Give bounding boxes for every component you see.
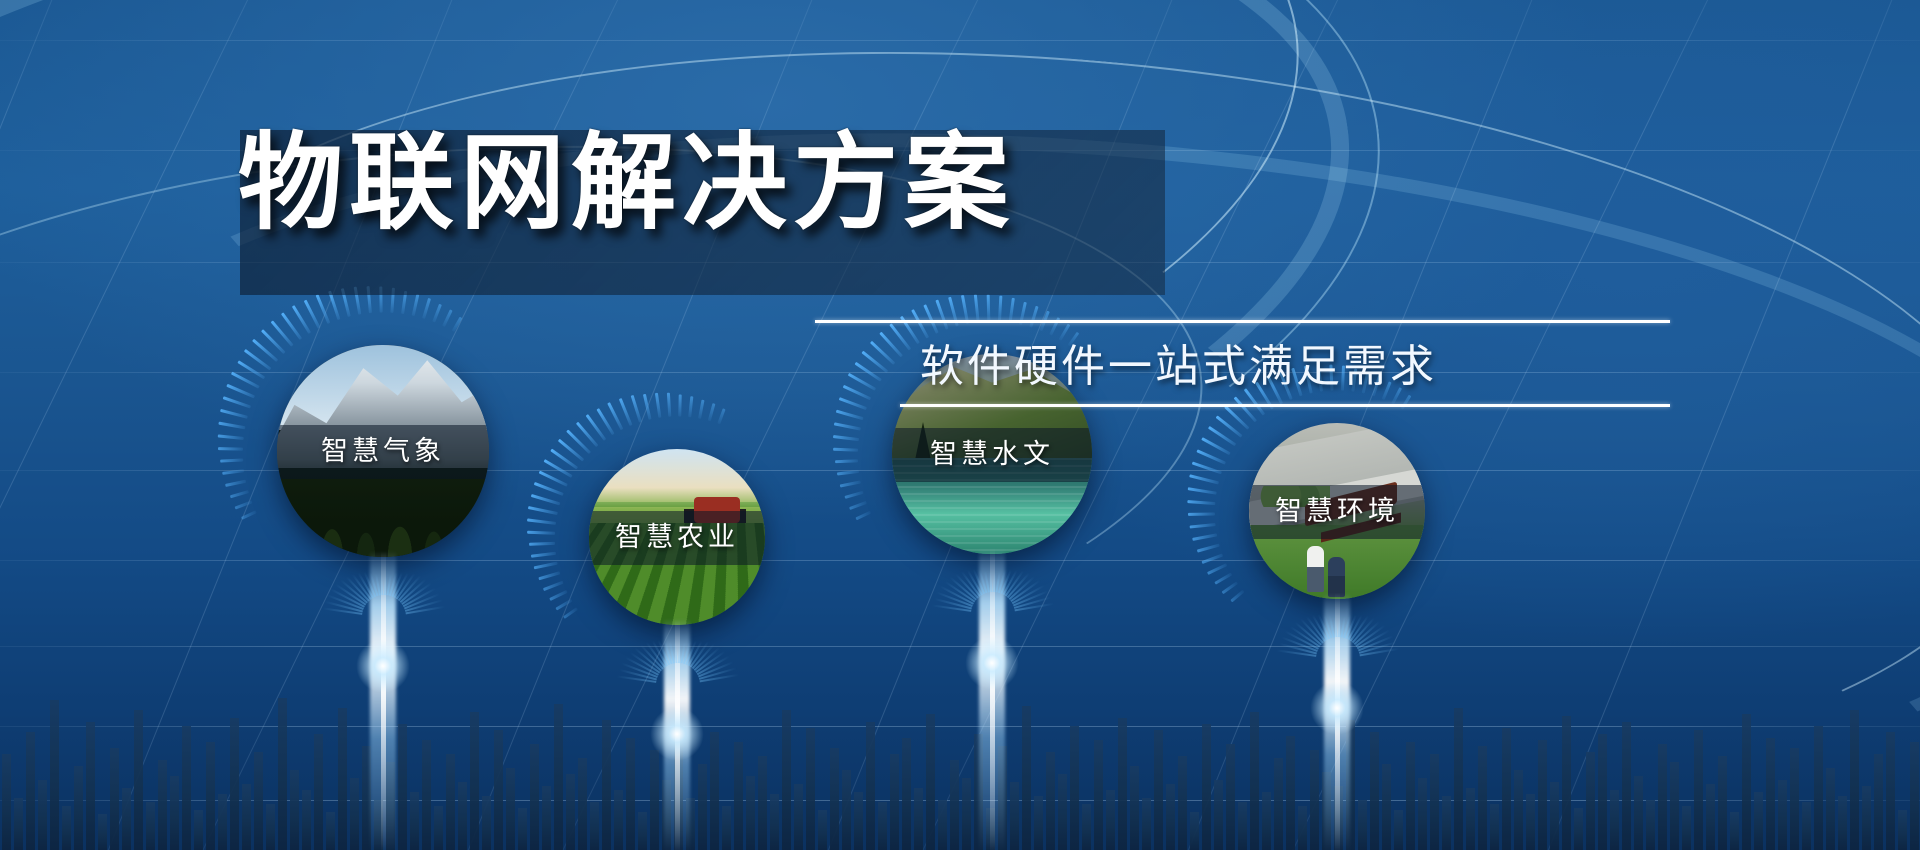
equalizer-bar xyxy=(1802,802,1811,850)
equalizer-bar xyxy=(1130,766,1139,850)
equalizer-bar xyxy=(1754,792,1763,850)
equalizer-bar xyxy=(26,732,35,850)
equalizer-bar xyxy=(218,794,227,850)
equalizer-bar xyxy=(1538,740,1547,850)
equalizer-bar xyxy=(110,748,119,850)
equalizer-bar xyxy=(38,780,47,850)
equalizer-bar xyxy=(686,798,695,850)
equalizer-bar xyxy=(1778,780,1787,850)
equalizer-bar xyxy=(1658,744,1667,850)
equalizer-bar xyxy=(1886,732,1895,850)
equalizer-bar xyxy=(1406,742,1415,850)
equalizer-bar xyxy=(1274,758,1283,850)
card-label: 智慧气象 xyxy=(277,425,489,479)
equalizer-bar xyxy=(626,738,635,850)
equalizer-bar xyxy=(170,776,179,850)
beam-ray-fan xyxy=(992,612,993,613)
equalizer-bar xyxy=(1574,808,1583,850)
equalizer-bar xyxy=(590,802,599,850)
equalizer-bar xyxy=(302,790,311,850)
equalizer-bar xyxy=(1898,810,1907,850)
equalizer-bar xyxy=(1478,746,1487,850)
equalizer-bar xyxy=(1358,800,1367,850)
equalizer-bar xyxy=(1706,784,1715,850)
equalizer-bar xyxy=(206,742,215,850)
equalizer-bar xyxy=(758,756,767,850)
equalizer-bar xyxy=(1430,754,1439,850)
equalizer-bar xyxy=(1526,794,1535,850)
equalizer-bar xyxy=(1502,728,1511,850)
equalizer-bar xyxy=(1298,806,1307,850)
equalizer-bar xyxy=(1034,796,1043,850)
equalizer-bar xyxy=(962,778,971,850)
equalizer-bar xyxy=(158,760,167,850)
equalizer-bar xyxy=(1442,796,1451,850)
equalizer-bars xyxy=(0,620,1920,850)
equalizer-bar xyxy=(134,710,143,850)
equalizer-bar xyxy=(326,812,335,850)
equalizer-bar xyxy=(410,792,419,850)
equalizer-bar xyxy=(542,786,551,850)
radial-tick-arc xyxy=(676,536,678,538)
equalizer-bar xyxy=(890,754,899,850)
equalizer-bar xyxy=(998,746,1007,850)
equalizer-bar xyxy=(1514,770,1523,850)
equalizer-bar xyxy=(278,698,287,850)
equalizer-bar xyxy=(1874,754,1883,850)
equalizer-bar xyxy=(746,776,755,850)
grid-line-horizontal xyxy=(0,40,1920,41)
equalizer-bar xyxy=(938,800,947,850)
equalizer-bar xyxy=(974,734,983,850)
equalizer-bar xyxy=(1610,790,1619,850)
equalizer-bar xyxy=(386,762,395,850)
wave-ribbon xyxy=(0,0,1344,629)
equalizer-bar xyxy=(1394,810,1403,850)
equalizer-bar xyxy=(710,732,719,850)
equalizer-bar xyxy=(602,720,611,850)
card-label: 智慧农业 xyxy=(589,511,765,565)
equalizer-bar xyxy=(1838,796,1847,850)
equalizer-bar xyxy=(926,714,935,850)
equalizer-bar xyxy=(1418,778,1427,850)
iot-solutions-banner: 智慧气象智慧农业智慧水文智慧环境 物联网解决方案 软件硬件一站式满足需求 xyxy=(0,0,1920,850)
equalizer-bar xyxy=(1214,780,1223,850)
equalizer-bar xyxy=(1466,788,1475,850)
card-circle[interactable]: 智慧环境 xyxy=(1249,423,1425,599)
equalizer-bar xyxy=(1598,734,1607,850)
equalizer-bar xyxy=(842,770,851,850)
equalizer-bar xyxy=(1670,762,1679,850)
equalizer-bar xyxy=(1118,718,1127,850)
equalizer-bar xyxy=(314,734,323,850)
equalizer-bar xyxy=(1730,812,1739,850)
radial-tick-arc xyxy=(991,453,993,455)
equalizer-bar xyxy=(1310,750,1319,850)
equalizer-bar xyxy=(782,710,791,850)
equalizer-bar xyxy=(794,784,803,850)
equalizer-bar xyxy=(338,708,347,850)
equalizer-bar xyxy=(866,722,875,850)
equalizer-bar xyxy=(1550,782,1559,850)
grid-line-horizontal xyxy=(0,470,1920,471)
equalizer-bar xyxy=(122,788,131,850)
equalizer-bar xyxy=(1226,744,1235,850)
equalizer-bar xyxy=(458,782,467,850)
equalizer-bar xyxy=(1070,726,1079,850)
equalizer-bar xyxy=(1286,736,1295,850)
urban-park-people-photo xyxy=(1249,423,1425,599)
equalizer-bar xyxy=(554,704,563,850)
equalizer-bar xyxy=(1010,782,1019,850)
equalizer-bar xyxy=(470,712,479,850)
grid-line-horizontal xyxy=(0,560,1920,561)
equalizer-bar xyxy=(878,802,887,850)
equalizer-bar xyxy=(1178,756,1187,850)
equalizer-bar xyxy=(254,752,263,850)
equalizer-bar xyxy=(74,766,83,850)
equalizer-bar xyxy=(494,730,503,850)
equalizer-bar xyxy=(566,774,575,850)
subtitle-rule-bottom xyxy=(900,404,1670,407)
equalizer-bar xyxy=(1082,804,1091,850)
equalizer-bar xyxy=(578,758,587,850)
equalizer-bar xyxy=(722,806,731,850)
card-label: 智慧水文 xyxy=(892,428,1092,482)
equalizer-bar xyxy=(1850,710,1859,850)
equalizer-bar xyxy=(698,764,707,850)
equalizer-bar xyxy=(1646,800,1655,850)
equalizer-bar xyxy=(434,806,443,850)
equalizer-bar xyxy=(1346,720,1355,850)
equalizer-bar xyxy=(1166,784,1175,850)
card-label: 智慧环境 xyxy=(1249,485,1425,539)
equalizer-bar xyxy=(1022,706,1031,850)
equalizer-bar xyxy=(986,808,995,850)
equalizer-bar xyxy=(854,792,863,850)
equalizer-bar xyxy=(98,814,107,850)
equalizer-bar xyxy=(1046,752,1055,850)
equalizer-bar xyxy=(422,740,431,850)
equalizer-bar xyxy=(818,810,827,850)
equalizer-bar xyxy=(1382,764,1391,850)
equalizer-bar xyxy=(1718,756,1727,850)
equalizer-bar xyxy=(1910,742,1919,850)
equalizer-bar xyxy=(530,744,539,850)
equalizer-bar xyxy=(674,716,683,850)
equalizer-bar xyxy=(182,726,191,850)
equalizer-bar xyxy=(1454,708,1463,850)
equalizer-bar xyxy=(1094,740,1103,850)
equalizer-bar xyxy=(1622,722,1631,850)
equalizer-bar xyxy=(1682,806,1691,850)
equalizer-bar xyxy=(518,808,527,850)
beam-ray-fan xyxy=(383,615,384,616)
card-circle[interactable]: 智慧气象 xyxy=(277,345,489,557)
equalizer-bar xyxy=(806,728,815,850)
equalizer-bar xyxy=(230,718,239,850)
page-title: 物联网解决方案 xyxy=(238,118,1178,249)
equalizer-bar xyxy=(1190,812,1199,850)
equalizer-bar xyxy=(1262,792,1271,850)
equalizer-bar xyxy=(902,738,911,850)
equalizer-bar xyxy=(242,784,251,850)
equalizer-bar xyxy=(1370,732,1379,850)
equalizer-bar xyxy=(1250,712,1259,850)
radial-tick-arc xyxy=(1336,510,1338,512)
equalizer-bar xyxy=(950,760,959,850)
equalizer-bar xyxy=(638,812,647,850)
subtitle-rule-top xyxy=(815,320,1670,323)
equalizer-bar xyxy=(482,796,491,850)
equalizer-bar xyxy=(1058,774,1067,850)
equalizer-bar xyxy=(2,754,11,850)
equalizer-bar xyxy=(1694,730,1703,850)
equalizer-bar xyxy=(50,700,59,850)
equalizer-bar xyxy=(914,788,923,850)
equalizer-bar xyxy=(398,724,407,850)
equalizer-bar xyxy=(266,804,275,850)
equalizer-bar xyxy=(14,798,23,850)
equalizer-bar xyxy=(290,770,299,850)
green-farmland-tractor-photo xyxy=(589,449,765,625)
snow-mountain-forest-photo xyxy=(277,345,489,557)
equalizer-bar xyxy=(650,750,659,850)
equalizer-bar xyxy=(1142,798,1151,850)
equalizer-bar xyxy=(1322,772,1331,850)
equalizer-bar xyxy=(350,778,359,850)
equalizer-bar xyxy=(1334,786,1343,850)
equalizer-bar xyxy=(1826,768,1835,850)
equalizer-bar xyxy=(662,780,671,850)
page-subtitle: 软件硬件一站式满足需求 xyxy=(920,330,1680,394)
radial-tick-arc xyxy=(382,450,384,452)
equalizer-bar xyxy=(734,742,743,850)
equalizer-bar xyxy=(1814,726,1823,850)
equalizer-bar xyxy=(770,794,779,850)
equalizer-bar xyxy=(1490,804,1499,850)
card-circle[interactable]: 智慧农业 xyxy=(589,449,765,625)
equalizer-bar xyxy=(194,810,203,850)
equalizer-bar xyxy=(1634,776,1643,850)
equalizer-bar xyxy=(506,768,515,850)
equalizer-bar xyxy=(1790,748,1799,850)
equalizer-bar xyxy=(1586,752,1595,850)
equalizer-bar xyxy=(446,754,455,850)
equalizer-bar xyxy=(830,748,839,850)
equalizer-bar xyxy=(62,806,71,850)
equalizer-bar xyxy=(1766,738,1775,850)
equalizer-bar xyxy=(362,746,371,850)
equalizer-bar xyxy=(1202,724,1211,850)
equalizer-bar xyxy=(1862,786,1871,850)
equalizer-bar xyxy=(1238,802,1247,850)
equalizer-bar xyxy=(1562,716,1571,850)
equalizer-bar xyxy=(1154,730,1163,850)
equalizer-bar xyxy=(86,722,95,850)
equalizer-bar xyxy=(374,800,383,850)
equalizer-bar xyxy=(1742,714,1751,850)
equalizer-bar xyxy=(146,802,155,850)
equalizer-bar xyxy=(1106,790,1115,850)
equalizer-bar xyxy=(614,790,623,850)
